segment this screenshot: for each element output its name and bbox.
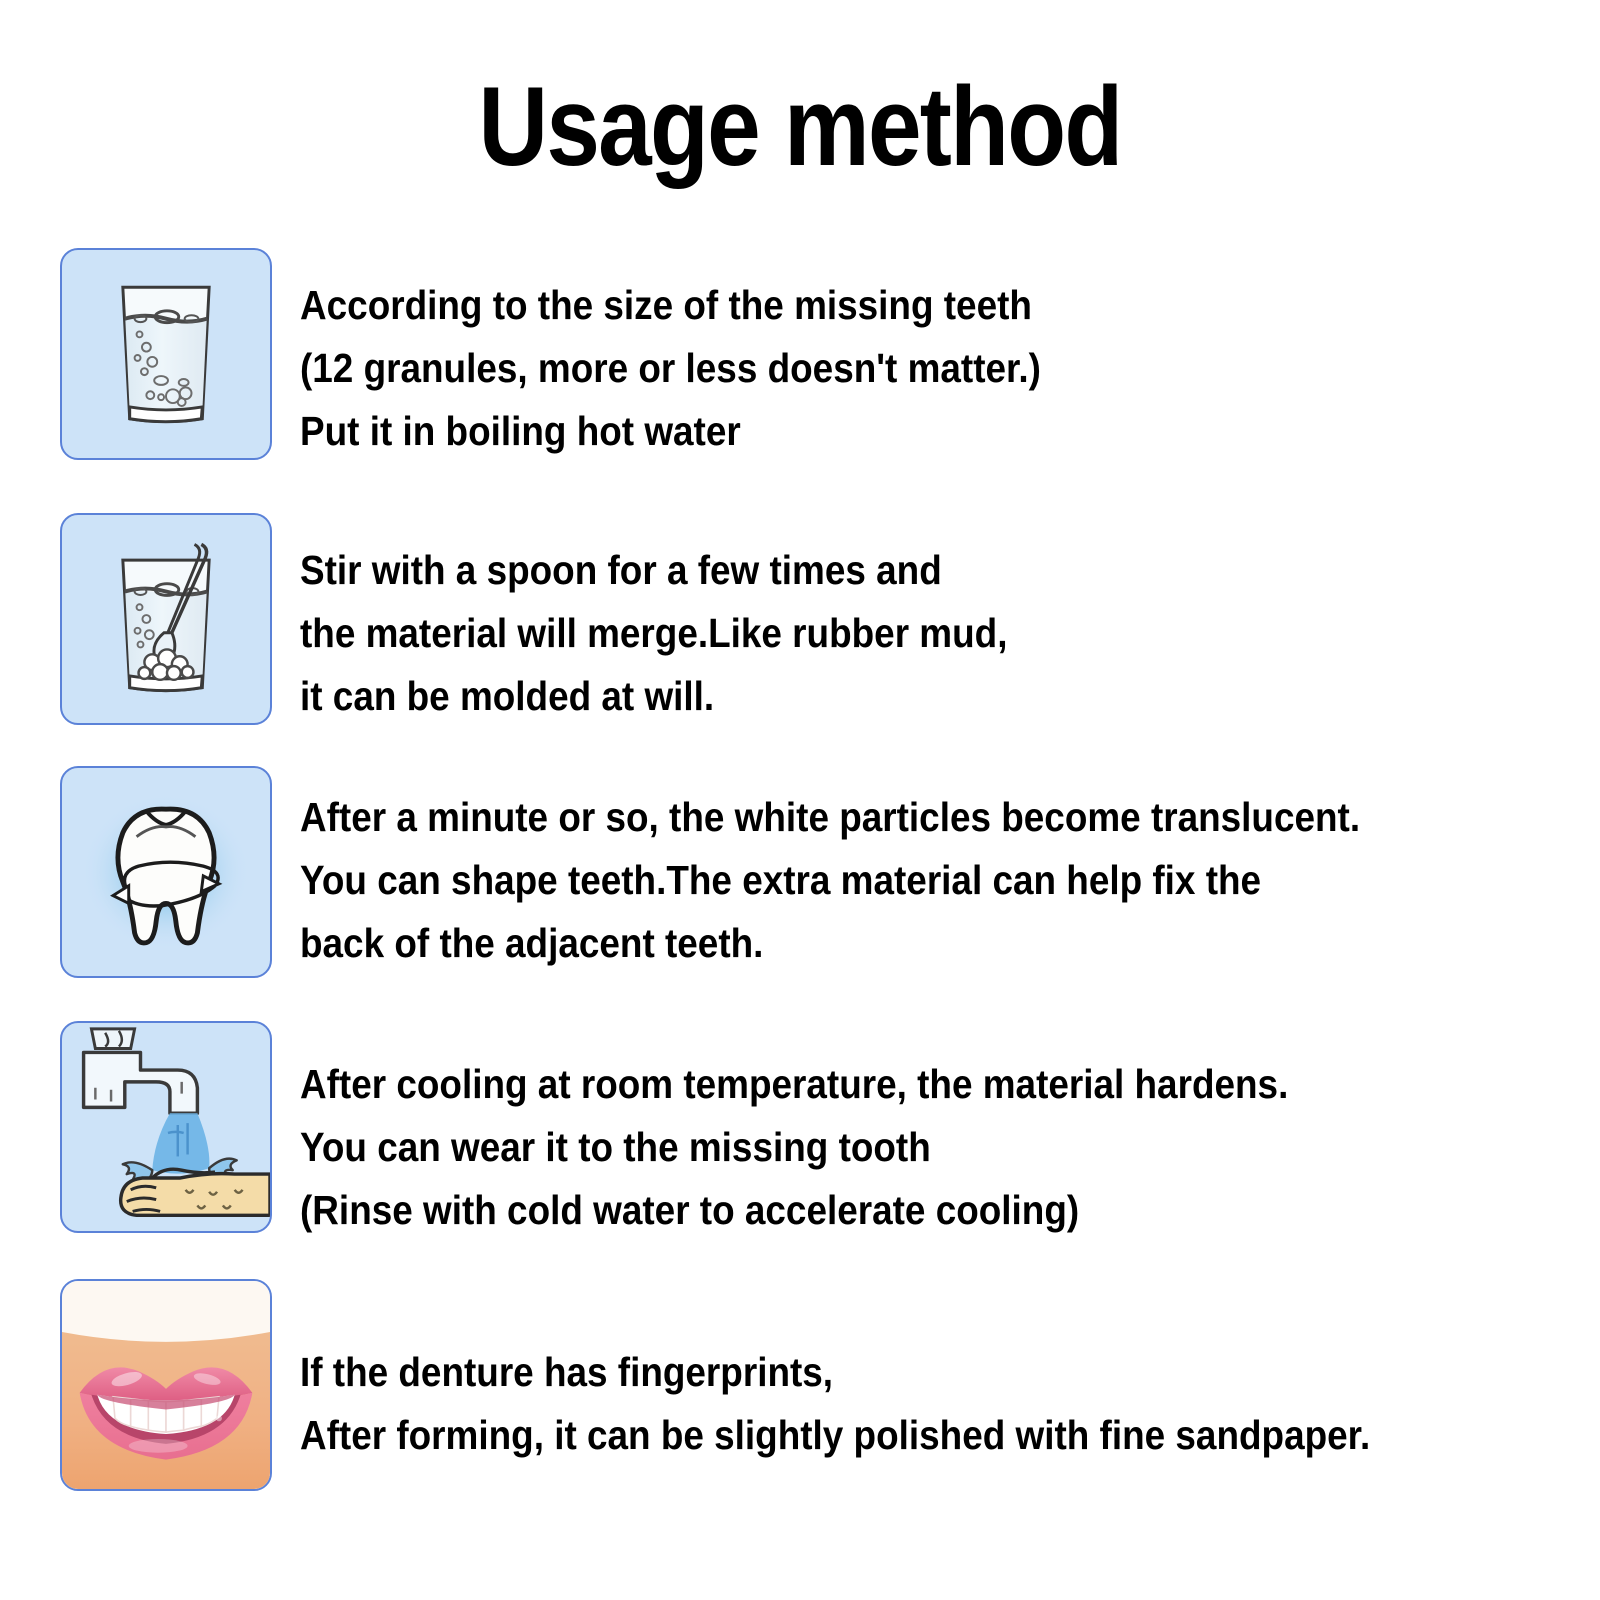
step-icon-wrap [0, 1279, 300, 1491]
step-icon-wrap [0, 1021, 300, 1233]
glass-of-water-icon [60, 248, 272, 460]
step-text: Stir with a spoon for a few times and th… [300, 513, 1470, 728]
step-line: (Rinse with cold water to accelerate coo… [300, 1179, 1470, 1242]
step-line: (12 granules, more or less doesn't matte… [300, 337, 1470, 400]
usage-method-infographic: Usage method [0, 0, 1600, 1600]
step-line: Put it in boiling hot water [300, 400, 1470, 463]
step-item: If the denture has fingerprints, After f… [0, 1279, 1600, 1519]
step-item: According to the size of the missing tee… [0, 248, 1600, 513]
step-icon-wrap [0, 248, 300, 460]
step-line: After a minute or so, the white particle… [300, 786, 1470, 849]
step-line: Stir with a spoon for a few times and [300, 539, 1470, 602]
step-line: According to the size of the missing tee… [300, 274, 1470, 337]
step-item: After a minute or so, the white particle… [0, 766, 1600, 1021]
step-item: After cooling at room temperature, the m… [0, 1021, 1600, 1279]
page-title: Usage method [112, 68, 1488, 186]
step-line: If the denture has fingerprints, [300, 1341, 1470, 1404]
step-line: After cooling at room temperature, the m… [300, 1053, 1470, 1116]
step-text: After cooling at room temperature, the m… [300, 1021, 1470, 1242]
step-text: If the denture has fingerprints, After f… [300, 1279, 1470, 1467]
step-line: back of the adjacent teeth. [300, 912, 1470, 975]
step-text: According to the size of the missing tee… [300, 248, 1470, 463]
step-line: After forming, it can be slightly polish… [300, 1404, 1470, 1467]
step-text: After a minute or so, the white particle… [300, 766, 1470, 975]
step-line: You can shape teeth.The extra material c… [300, 849, 1470, 912]
step-icon-wrap [0, 513, 300, 725]
smiling-mouth-icon [60, 1279, 272, 1491]
steps-list: According to the size of the missing tee… [0, 248, 1600, 1519]
step-line: it can be molded at will. [300, 665, 1470, 728]
step-line: the material will merge.Like rubber mud, [300, 602, 1470, 665]
glass-with-spoon-icon [60, 513, 272, 725]
step-line: You can wear it to the missing tooth [300, 1116, 1470, 1179]
step-icon-wrap [0, 766, 300, 978]
tooth-shaping-icon [60, 766, 272, 978]
step-item: Stir with a spoon for a few times and th… [0, 513, 1600, 766]
faucet-rinse-icon [60, 1021, 272, 1233]
